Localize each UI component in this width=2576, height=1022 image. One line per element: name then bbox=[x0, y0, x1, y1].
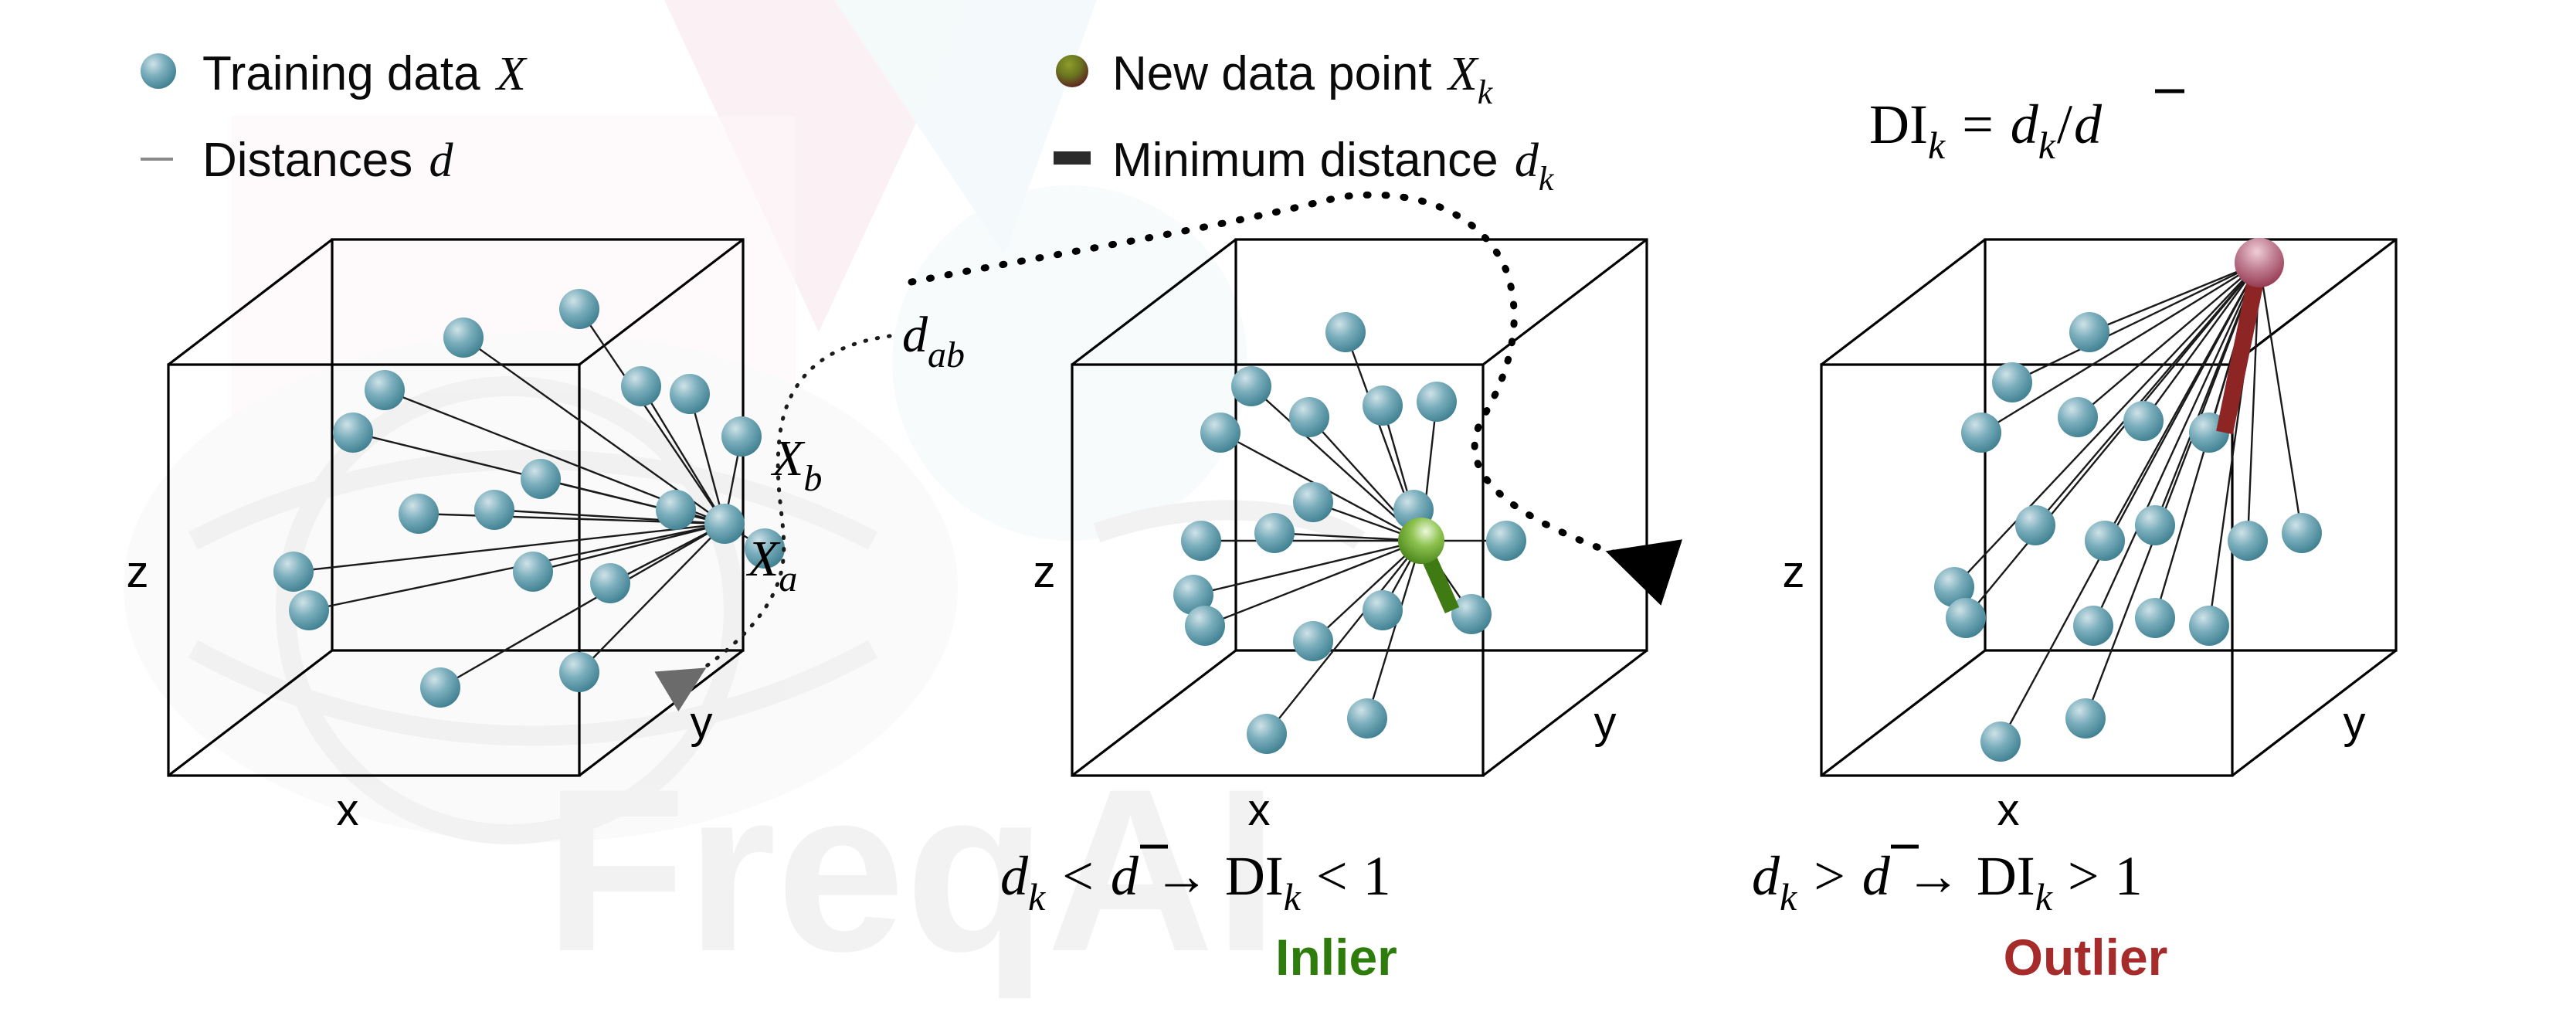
axis-label-z-panel3: z bbox=[1783, 547, 1805, 597]
training-point bbox=[1293, 621, 1333, 661]
training-point bbox=[2073, 606, 2113, 646]
training-point bbox=[1231, 366, 1271, 406]
training-point bbox=[670, 374, 710, 414]
training-point bbox=[2282, 513, 2322, 553]
new-point-dot-icon bbox=[1056, 55, 1088, 87]
training-point bbox=[1254, 513, 1295, 553]
verdict-inlier: Inlier bbox=[1275, 929, 1397, 986]
training-point bbox=[1347, 698, 1387, 738]
training-point bbox=[289, 590, 329, 630]
training-point bbox=[399, 494, 439, 534]
di-diagram: FreqAI Training data X Distances d bbox=[0, 0, 2576, 1022]
training-point bbox=[1451, 594, 1492, 634]
training-point bbox=[2069, 312, 2109, 352]
axis-label-y-panel3: y bbox=[2344, 698, 2366, 748]
training-point bbox=[1961, 413, 2001, 453]
training-point bbox=[1980, 722, 2021, 762]
training-point bbox=[1363, 385, 1403, 426]
training-point bbox=[590, 563, 630, 603]
new-data-point-outlier bbox=[2235, 238, 2284, 287]
hub-point-xa bbox=[704, 504, 745, 544]
training-point bbox=[2015, 505, 2055, 545]
training-point bbox=[273, 552, 314, 592]
axis-label-z-panel2: z bbox=[1033, 547, 1056, 597]
training-point bbox=[2228, 521, 2268, 561]
training-point bbox=[1363, 590, 1403, 630]
axis-label-x-panel2: x bbox=[1248, 785, 1271, 835]
training-point bbox=[365, 370, 405, 410]
training-point bbox=[2058, 397, 2098, 437]
training-point bbox=[1200, 413, 1240, 453]
axis-label-z-panel1: z bbox=[127, 547, 149, 597]
verdict-outlier: Outlier bbox=[2004, 929, 2168, 986]
training-point bbox=[2085, 521, 2125, 561]
training-point bbox=[420, 667, 460, 708]
axis-label-y-panel2: y bbox=[1594, 698, 1617, 748]
training-point bbox=[474, 490, 514, 530]
training-point bbox=[443, 317, 484, 358]
training-point bbox=[1247, 714, 1287, 754]
training-point bbox=[1992, 362, 2032, 402]
training-point-dot-icon bbox=[141, 53, 176, 89]
training-point bbox=[621, 366, 661, 406]
training-point bbox=[2189, 606, 2229, 646]
legend-training-label: Training data X bbox=[202, 47, 528, 100]
training-point bbox=[721, 416, 762, 457]
training-point bbox=[2123, 401, 2164, 441]
training-point bbox=[2065, 698, 2106, 738]
figure-root: FreqAI Training data X Distances d bbox=[0, 0, 2576, 1022]
training-point bbox=[1181, 521, 1221, 561]
legend-distances-label: Distances d bbox=[202, 134, 453, 187]
training-point bbox=[1325, 312, 1366, 352]
new-data-point-inlier bbox=[1398, 518, 1444, 564]
training-point bbox=[2135, 598, 2175, 638]
training-point bbox=[1486, 521, 1526, 561]
training-point bbox=[1293, 482, 1333, 522]
axis-label-y-panel1: y bbox=[691, 698, 713, 748]
training-point bbox=[333, 413, 373, 453]
training-point bbox=[1417, 382, 1457, 422]
axis-label-x-panel3: x bbox=[1997, 785, 2020, 835]
training-point bbox=[656, 490, 696, 530]
training-point bbox=[1946, 598, 1986, 638]
training-point bbox=[559, 652, 599, 692]
training-point bbox=[521, 459, 561, 499]
axis-label-x-panel1: x bbox=[337, 785, 359, 835]
training-point bbox=[1289, 397, 1329, 437]
min-distance-dash-icon bbox=[1054, 151, 1091, 165]
training-point bbox=[513, 552, 553, 592]
training-point bbox=[2135, 505, 2175, 545]
training-point bbox=[559, 289, 599, 329]
training-point bbox=[1185, 606, 1225, 646]
